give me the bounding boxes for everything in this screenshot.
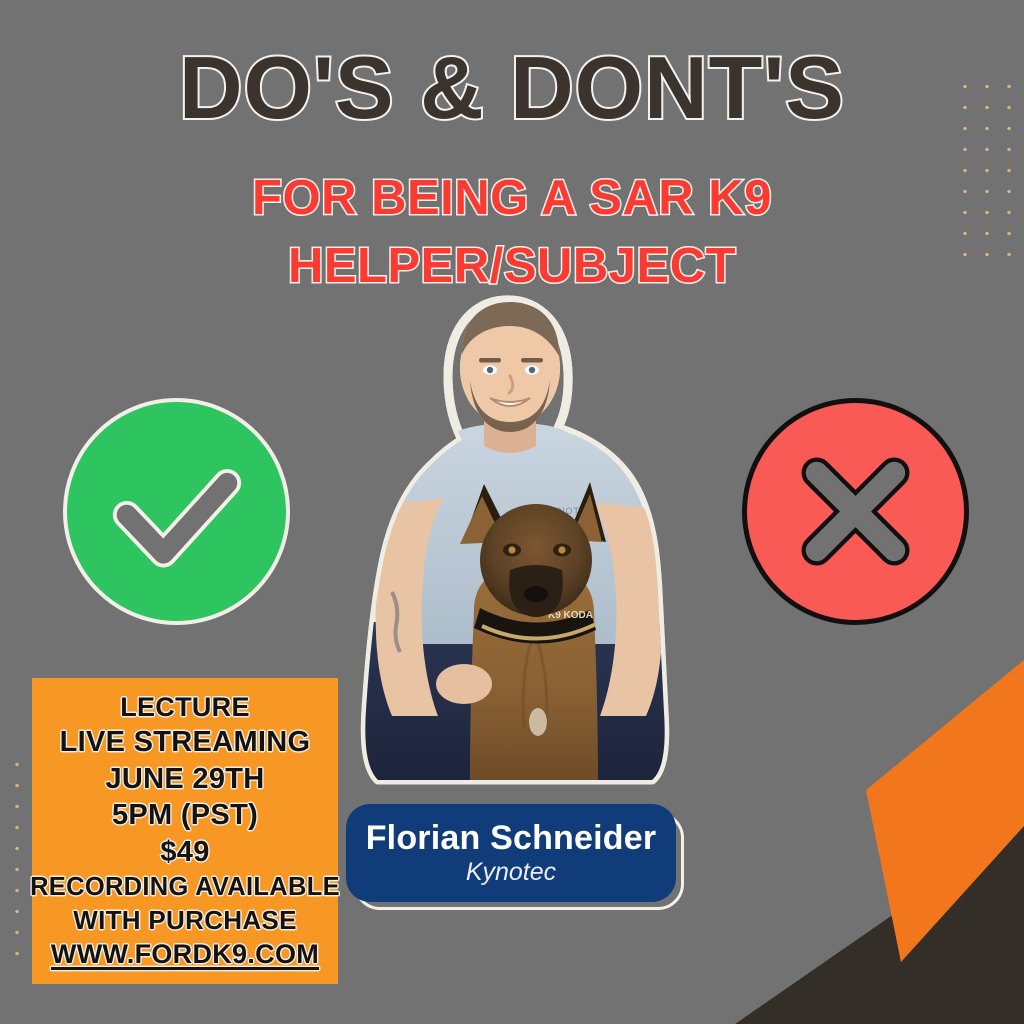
subtitle-line-1: FOR BEING A SAR K9: [0, 165, 1024, 233]
subtitle-line-2: HELPER/SUBJECT: [0, 233, 1024, 301]
detail-recording: RECORDING AVAILABLE: [30, 874, 340, 900]
presenter-banner: Florian Schneider Kynotec: [346, 804, 676, 902]
detail-price: $49: [160, 838, 209, 868]
dog-nose: [524, 586, 548, 602]
event-details-box: LECTURE LIVE STREAMING JUNE 29TH 5PM (PS…: [32, 678, 338, 984]
presenter-photo: KYNOTEC: [352, 292, 682, 792]
website-link[interactable]: WWW.FORDK9.COM: [51, 941, 319, 969]
presenter-organization: Kynotec: [466, 859, 556, 885]
check-icon: [127, 483, 227, 553]
cross-icon: [817, 473, 894, 550]
detail-lecture: LECTURE: [120, 694, 250, 722]
detail-recording-cont: WITH PURCHASE: [73, 907, 296, 934]
presenter-name: Florian Schneider: [366, 821, 657, 857]
hand: [436, 664, 492, 704]
detail-streaming: LIVE STREAMING: [60, 728, 311, 758]
orange-slash-shape: [868, 668, 1024, 962]
do-badge: [63, 398, 290, 625]
photo-content: KYNOTEC: [352, 302, 682, 792]
dont-badge: [742, 398, 969, 625]
detail-time: 5PM (PST): [112, 801, 258, 831]
orange-slash-shape-upper: [866, 660, 1024, 962]
detail-date: JUNE 29TH: [105, 765, 264, 795]
page-title: DO'S & DONT'S: [0, 44, 1024, 132]
dark-corner-triangle: [735, 824, 1024, 1024]
poster-canvas: DO'S & DONT'S FOR BEING A SAR K9 HELPER/…: [0, 0, 1024, 1024]
page-subtitle: FOR BEING A SAR K9 HELPER/SUBJECT: [0, 165, 1024, 300]
